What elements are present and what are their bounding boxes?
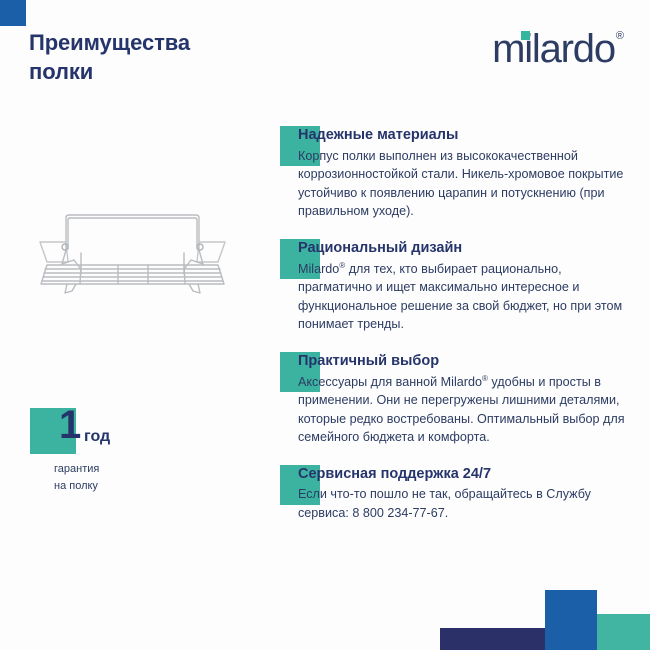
warranty-unit: год — [84, 429, 110, 445]
warranty-square-accent: 1 год — [30, 408, 76, 454]
feature-body-text: для тех, кто выбирает рационально, прагм… — [298, 262, 622, 332]
feature-body: Корпус полки выполнен из высококачествен… — [298, 147, 625, 221]
feature-list: Надежные материалы Корпус полки выполнен… — [280, 126, 625, 540]
feature-body: Аксессуары для ванной Milardo® удобны и … — [298, 373, 625, 447]
corner-accent-top-left — [0, 0, 26, 26]
brand-i-dot-icon — [521, 31, 530, 40]
corner-accent-bottom-navy — [440, 628, 560, 650]
warranty-number: 1 — [59, 405, 80, 445]
feature-body: Если что-то пошло не так, обращайтесь в … — [298, 485, 625, 522]
warranty-badge: 1 год гарантия на полку — [30, 408, 160, 494]
page-title: Преимущества полки — [29, 28, 259, 86]
feature-item: Практичный выбор Аксессуары для ванной M… — [280, 352, 625, 447]
feature-body: Milardo® для тех, кто выбирает рациональ… — [298, 260, 625, 334]
feature-title: Рациональный дизайн — [298, 239, 625, 258]
promo-page: Преимущества полки milardo ® — [0, 0, 650, 650]
feature-title: Сервисная поддержка 24/7 — [298, 465, 625, 484]
product-image — [12, 192, 262, 317]
shelf-illustration-icon — [12, 192, 262, 317]
brand-wordmark-text: milardo — [492, 27, 615, 71]
warranty-caption: гарантия на полку — [30, 461, 160, 494]
corner-accent-bottom-blue — [545, 590, 597, 650]
feature-title: Надежные материалы — [298, 126, 625, 145]
feature-item: Рациональный дизайн Milardo® для тех, кт… — [280, 239, 625, 334]
feature-title: Практичный выбор — [298, 352, 625, 371]
feature-body-brand: Аксессуары для ванной Milardo — [298, 375, 482, 389]
feature-item: Надежные материалы Корпус полки выполнен… — [280, 126, 625, 221]
brand-logo: milardo ® — [492, 29, 624, 73]
feature-item: Сервисная поддержка 24/7 Если что-то пош… — [280, 465, 625, 523]
brand-wordmark: milardo — [492, 29, 615, 69]
feature-body-brand: Milardo — [298, 262, 339, 276]
registered-trademark-icon: ® — [616, 31, 624, 42]
